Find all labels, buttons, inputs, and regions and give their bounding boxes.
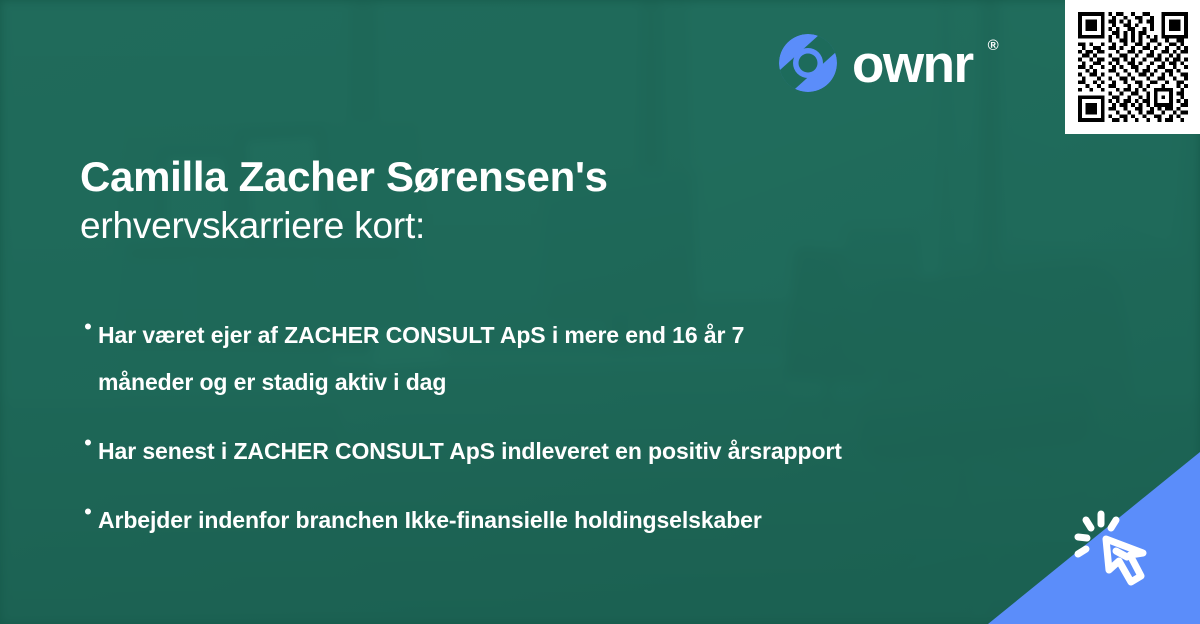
list-item: • Arbejder indenfor branchen Ikke-finans…	[78, 497, 1038, 544]
promo-card: ownr ®	[0, 0, 1200, 624]
headline-line-1: Camilla Zacher Sørensen's	[80, 152, 980, 202]
bullet-marker-icon: •	[78, 496, 98, 528]
bullet-marker-icon: •	[78, 427, 98, 459]
qr-code-icon	[1078, 12, 1188, 122]
list-item-text: Arbejder indenfor branchen Ikke-finansie…	[98, 497, 762, 544]
qr-code-panel[interactable]	[1065, 0, 1200, 134]
page-title: Camilla Zacher Sørensen's erhvervskarrie…	[80, 152, 980, 250]
career-facts-list: • Har været ejer af ZACHER CONSULT ApS i…	[78, 312, 1038, 566]
headline-line-2: erhvervskarriere kort:	[80, 202, 980, 250]
list-item: • Har været ejer af ZACHER CONSULT ApS i…	[78, 312, 1038, 406]
brand-lockup[interactable]: ownr ®	[778, 33, 998, 93]
ownr-circle-slash-icon	[778, 33, 838, 93]
list-item-text: Har været ejer af ZACHER CONSULT ApS i m…	[98, 312, 843, 406]
bullet-marker-icon: •	[78, 311, 98, 343]
brand-wordmark: ownr	[852, 38, 973, 91]
list-item: • Har senest i ZACHER CONSULT ApS indlev…	[78, 428, 1038, 475]
list-item-text: Har senest i ZACHER CONSULT ApS indlever…	[98, 428, 842, 475]
registered-trademark-symbol: ®	[988, 37, 999, 54]
